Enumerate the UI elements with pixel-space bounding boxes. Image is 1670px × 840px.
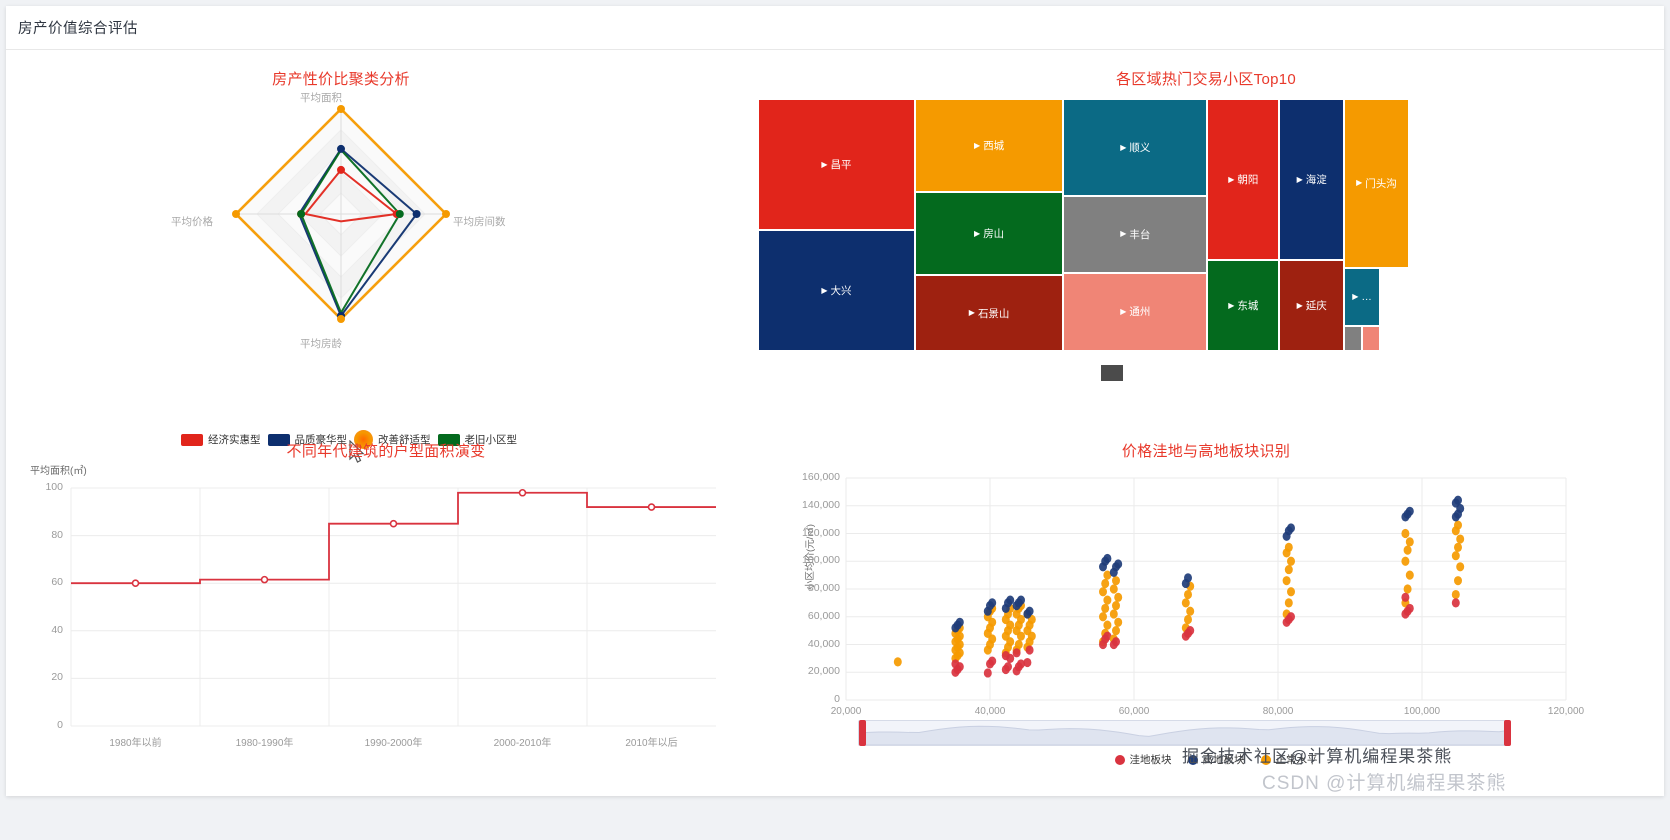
scatter-ytick: 80,000: [788, 582, 840, 594]
treemap-tile-label: 顺义: [1129, 140, 1150, 155]
watermark-secondary: CSDN @计算机编程果茶熊: [1262, 768, 1506, 795]
play-triangle-icon: ▶: [821, 161, 827, 169]
play-triangle-icon: ▶: [1120, 230, 1126, 238]
line-chart-xtick: 2010年以后: [592, 734, 712, 749]
radar-axis-label-area: 平均面积: [300, 90, 342, 105]
treemap-tile-label: 大兴: [831, 283, 852, 298]
play-triangle-icon: ▶: [821, 287, 827, 295]
radar-axis-label-age: 平均房龄: [300, 336, 342, 351]
play-triangle-icon: ▶: [1120, 308, 1126, 316]
scatter-xtick: 20,000: [806, 706, 886, 717]
treemap-tile[interactable]: ▶大兴: [758, 230, 915, 351]
treemap-tile[interactable]: ▶海淀: [1279, 99, 1344, 260]
scatter-xtick: 40,000: [950, 706, 1030, 717]
treemap-tile-label: 丰台: [1129, 227, 1150, 242]
treemap-tile[interactable]: ▶丰台: [1063, 196, 1207, 273]
treemap-tile[interactable]: ▶…: [1344, 268, 1380, 326]
legend-label-lowland: 洼地板块: [1130, 752, 1172, 767]
scatter-ytick: 120,000: [788, 527, 840, 539]
play-triangle-icon: ▶: [1297, 176, 1303, 184]
play-triangle-icon: ▶: [1228, 302, 1234, 310]
treemap-tile[interactable]: ▶石景山: [915, 275, 1063, 351]
line-chart-xtick: 2000-2010年: [463, 734, 583, 749]
play-triangle-icon: ▶: [969, 309, 975, 317]
play-triangle-icon: ▶: [1120, 144, 1126, 152]
treemap-tile[interactable]: ▶门头沟: [1344, 99, 1409, 268]
play-triangle-icon: ▶: [1352, 293, 1358, 301]
scatter-ytick: 40,000: [788, 638, 840, 650]
scatter-ytick: 160,000: [788, 471, 840, 483]
legend-dot-lowland: [1115, 755, 1125, 765]
scatter-ytick: 60,000: [788, 610, 840, 622]
app-window: 房产价值综合评估 房产性价比聚类分析 平均面积 平均房间数 平均房龄: [6, 6, 1664, 796]
radar-chart-title: 房产性价比聚类分析: [6, 68, 676, 89]
treemap-tile-label: 门头沟: [1365, 176, 1397, 191]
radar-axis-label-rooms: 平均房间数: [453, 214, 506, 229]
play-triangle-icon: ▶: [1297, 302, 1303, 310]
line-chart-svg: [26, 478, 726, 748]
scatter-xtick: 60,000: [1094, 706, 1174, 717]
datazoom-handle-left[interactable]: [859, 720, 866, 746]
scatter-chart-panel: 价格洼地与高地板块识别 小区均价(元/㎡) 020,00040,00060,00…: [766, 440, 1664, 770]
treemap-tile[interactable]: ▶朝阳: [1207, 99, 1279, 260]
treemap-tile-label: 东城: [1237, 298, 1258, 313]
treemap-tile[interactable]: [1344, 326, 1362, 351]
scatter-chart-svg: [786, 470, 1586, 720]
play-triangle-icon: ▶: [1228, 176, 1234, 184]
scatter-chart-title: 价格洼地与高地板块识别: [766, 440, 1646, 461]
line-chart-plot: 020406080100 1980年以前1980-1990年1990-2000年…: [26, 478, 726, 748]
play-triangle-icon: ▶: [974, 230, 980, 238]
line-chart-title: 不同年代建筑的户型面积演变: [6, 440, 766, 461]
line-chart-xtick: 1980-1990年: [205, 734, 325, 749]
treemap-breadcrumb-root[interactable]: [1101, 365, 1123, 381]
treemap-tile[interactable]: ▶顺义: [1063, 99, 1207, 196]
scatter-xtick: 80,000: [1238, 706, 1318, 717]
radar-chart-plot: 平均面积 平均房间数 平均房龄 平均价格: [181, 96, 501, 356]
treemap-tile[interactable]: ▶东城: [1207, 260, 1279, 351]
window-titlebar: 房产价值综合评估: [6, 6, 1664, 50]
scatter-chart-plot: 020,00040,00060,00080,000100,000120,0001…: [786, 470, 1646, 715]
line-chart-ytick: 0: [33, 719, 63, 731]
line-chart-xtick: 1990-2000年: [334, 734, 454, 749]
dashboard-board: 房产性价比聚类分析 平均面积 平均房间数 平均房龄 平均价格: [6, 50, 1664, 796]
treemap-tile-label: 海淀: [1306, 172, 1327, 187]
watermark-primary: 掘金技术社区@计算机编程果茶熊: [1182, 742, 1452, 767]
treemap-tile[interactable]: ▶通州: [1063, 273, 1207, 351]
play-triangle-icon: ▶: [974, 142, 980, 150]
scatter-xtick: 100,000: [1382, 706, 1462, 717]
legend-item-lowland[interactable]: 洼地板块: [1115, 752, 1172, 767]
line-chart-ytick: 100: [33, 481, 63, 493]
treemap-tile[interactable]: ▶延庆: [1279, 260, 1344, 351]
treemap-tile-label: 朝阳: [1237, 172, 1258, 187]
treemap-tiles[interactable]: ▶昌平▶大兴▶西城▶房山▶石景山▶顺义▶丰台▶通州▶朝阳▶东城▶海淀▶延庆▶门头…: [758, 99, 1478, 351]
play-triangle-icon: ▶: [1356, 179, 1362, 187]
line-chart-xtick: 1980年以前: [76, 734, 196, 749]
treemap-tile-label: 延庆: [1306, 298, 1327, 313]
treemap-tile-label: 昌平: [831, 157, 852, 172]
line-chart-ytick: 80: [33, 529, 63, 541]
scatter-ytick: 0: [788, 693, 840, 705]
radar-axis-label-price: 平均价格: [171, 214, 213, 229]
line-chart-panel: 不同年代建筑的户型面积演变 平均面积(㎡) 020406080100 1980年…: [6, 440, 766, 770]
scatter-ytick: 100,000: [788, 554, 840, 566]
line-chart-ytick: 20: [33, 671, 63, 683]
treemap-tile[interactable]: [1362, 326, 1380, 351]
treemap-tile-label: 石景山: [978, 306, 1010, 321]
treemap-tile[interactable]: ▶房山: [915, 192, 1063, 275]
line-chart-ytick: 60: [33, 576, 63, 588]
treemap-title: 各区域热门交易小区Top10: [766, 68, 1646, 89]
scatter-ytick: 20,000: [788, 665, 840, 677]
treemap-tile[interactable]: ▶西城: [915, 99, 1063, 192]
scatter-ytick: 140,000: [788, 499, 840, 511]
scatter-xtick: 120,000: [1526, 706, 1606, 717]
radar-chart-panel: 房产性价比聚类分析 平均面积 平均房间数 平均房龄 平均价格: [6, 68, 766, 408]
treemap-tile-label: 通州: [1129, 304, 1150, 319]
treemap-tile-label: 西城: [983, 138, 1004, 153]
treemap-tile-label: 房山: [983, 226, 1004, 241]
line-chart-ytick: 40: [33, 624, 63, 636]
treemap-tile-label: …: [1361, 291, 1372, 303]
treemap-panel: 各区域热门交易小区Top10 ▶昌平▶大兴▶西城▶房山▶石景山▶顺义▶丰台▶通州…: [766, 68, 1664, 428]
datazoom-handle-right[interactable]: [1504, 720, 1511, 746]
treemap-tile[interactable]: ▶昌平: [758, 99, 915, 230]
page-title: 房产价值综合评估: [18, 17, 138, 38]
line-chart-ylabel: 平均面积(㎡): [30, 462, 87, 477]
